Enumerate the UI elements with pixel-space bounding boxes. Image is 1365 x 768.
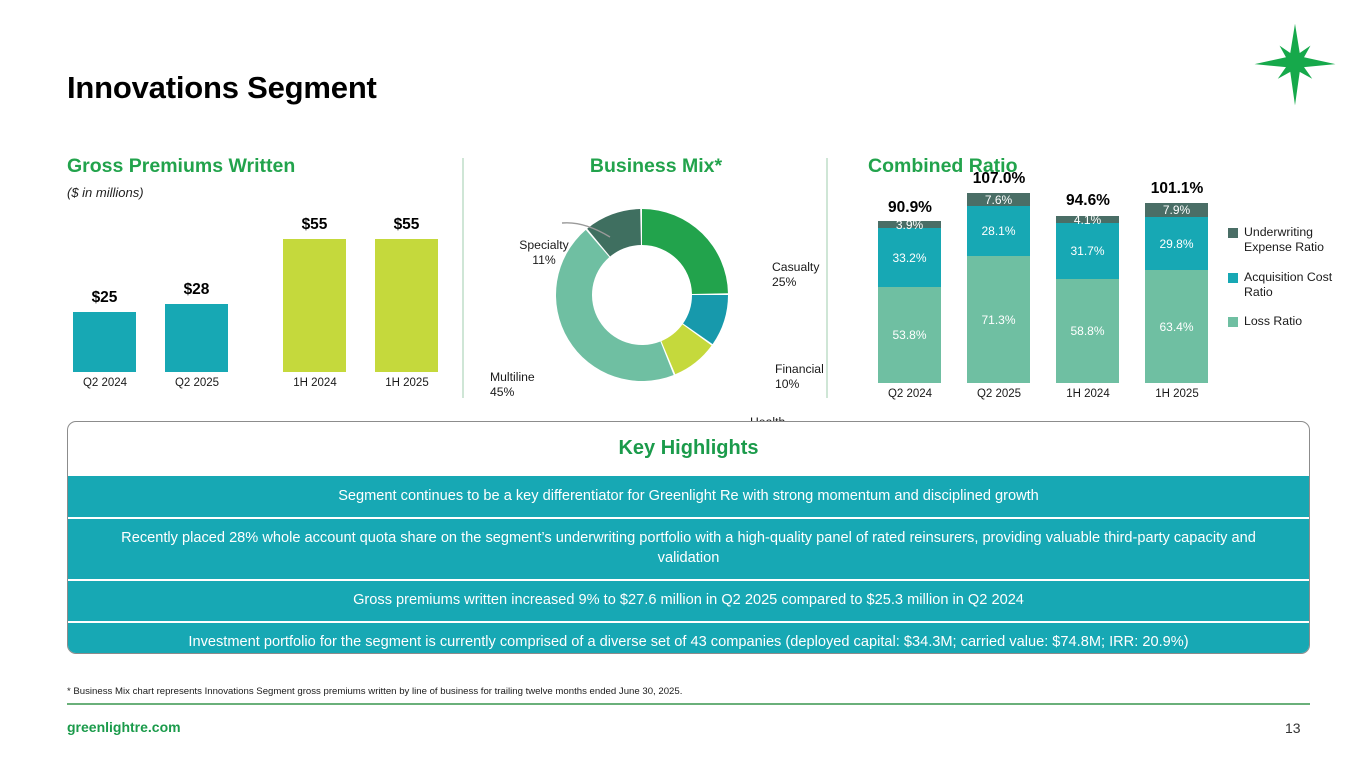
gpw-category-label: 1H 2024 <box>275 377 355 389</box>
cr-segment-underwriting-expense-ratio: 4.1% <box>1056 216 1119 223</box>
combined-ratio-legend: Underwriting Expense RatioAcquisition Co… <box>1228 225 1353 344</box>
cr-segment-acquisition-cost-ratio: 29.8% <box>1145 217 1208 270</box>
key-highlights-box: Key Highlights Segment continues to be a… <box>67 421 1310 654</box>
cr-category-label: 1H 2025 <box>1137 388 1217 400</box>
cr-segment-label: 7.6% <box>985 193 1012 207</box>
combined-ratio-chart: Combined Ratio 3.9%33.2%53.8%90.9%7.6%28… <box>868 155 1348 410</box>
gpw-category-axis: Q2 2024Q2 20251H 20241H 2025 <box>67 377 437 397</box>
cr-stack: 7.6%28.1%71.3% <box>967 193 1030 383</box>
footnote: * Business Mix chart represents Innovati… <box>67 686 682 697</box>
legend-label: Loss Ratio <box>1244 314 1302 329</box>
cr-segment-label: 53.8% <box>892 328 926 342</box>
cr-segment-acquisition-cost-ratio: 28.1% <box>967 206 1030 256</box>
cr-segment-acquisition-cost-ratio: 31.7% <box>1056 223 1119 279</box>
cr-segment-acquisition-cost-ratio: 33.2% <box>878 228 941 287</box>
page-number: 13 <box>1285 720 1301 736</box>
cr-column-q2-2024: 3.9%33.2%53.8%90.9% <box>878 193 941 383</box>
cr-segment-label: 4.1% <box>1074 213 1101 227</box>
page-title: Innovations Segment <box>67 70 377 106</box>
legend-label: Underwriting Expense Ratio <box>1244 225 1353 256</box>
combined-ratio-plot-area: 3.9%33.2%53.8%90.9%7.6%28.1%71.3%107.0%4… <box>868 193 1208 383</box>
cr-stack: 4.1%31.7%58.8% <box>1056 216 1119 383</box>
gpw-bar-1h-2024: $55 <box>283 216 346 372</box>
gpw-value-label: $28 <box>184 281 210 299</box>
gpw-value-label: $55 <box>394 216 420 234</box>
cr-total-label: 90.9% <box>860 199 960 217</box>
gpw-bar-1h-2025: $55 <box>375 216 438 372</box>
cr-segment-label: 29.8% <box>1159 237 1193 251</box>
gpw-title: Gross Premiums Written <box>67 155 447 178</box>
key-highlight-row: Segment continues to be a key differenti… <box>68 474 1309 517</box>
key-highlight-row: Gross premiums written increased 9% to $… <box>68 579 1309 621</box>
cr-column-q2-2025: 7.6%28.1%71.3%107.0% <box>967 193 1030 383</box>
key-highlight-row: Investment portfolio for the segment is … <box>68 621 1309 654</box>
business-mix-chart: Business Mix* Casualty 25% Financial 10%… <box>480 155 820 410</box>
cr-segment-label: 63.4% <box>1159 320 1193 334</box>
cr-category-label: Q2 2024 <box>870 388 950 400</box>
cr-segment-label: 71.3% <box>981 313 1015 327</box>
cr-segment-loss-ratio: 63.4% <box>1145 270 1208 383</box>
cr-segment-loss-ratio: 53.8% <box>878 287 941 383</box>
gpw-category-label: Q2 2025 <box>157 377 237 389</box>
slice-label-specialty: Specialty 11% <box>498 238 590 268</box>
legend-item: Acquisition Cost Ratio <box>1228 270 1353 301</box>
gpw-value-label: $55 <box>302 216 328 234</box>
business-mix-title: Business Mix* <box>526 155 786 178</box>
gpw-bar-rect <box>73 312 136 372</box>
website-link[interactable]: greenlightre.com <box>67 719 181 735</box>
greenlight-star-icon <box>1252 22 1338 108</box>
cr-segment-label: 33.2% <box>892 251 926 265</box>
gpw-category-label: Q2 2024 <box>65 377 145 389</box>
gpw-category-label: 1H 2025 <box>367 377 447 389</box>
donut-slice-casualty <box>642 209 728 294</box>
cr-segment-loss-ratio: 58.8% <box>1056 279 1119 383</box>
cr-total-label: 94.6% <box>1038 192 1138 210</box>
combined-ratio-category-axis: Q2 2024Q2 20251H 20241H 2025 <box>868 388 1208 408</box>
cr-segment-label: 7.9% <box>1163 203 1190 217</box>
cr-stack: 3.9%33.2%53.8% <box>878 221 941 383</box>
slice-label-casualty: Casualty 25% <box>772 260 819 290</box>
cr-column-1h-2025: 7.9%29.8%63.4%101.1% <box>1145 193 1208 383</box>
cr-stack: 7.9%29.8%63.4% <box>1145 203 1208 383</box>
legend-swatch-icon <box>1228 273 1238 283</box>
legend-item: Underwriting Expense Ratio <box>1228 225 1353 256</box>
gpw-subtitle: ($ in millions) <box>67 185 447 200</box>
gross-premiums-written-chart: Gross Premiums Written ($ in millions) $… <box>67 155 447 410</box>
legend-swatch-icon <box>1228 317 1238 327</box>
gpw-value-label: $25 <box>92 289 118 307</box>
divider-right <box>826 158 828 398</box>
cr-category-label: 1H 2024 <box>1048 388 1128 400</box>
cr-segment-loss-ratio: 71.3% <box>967 256 1030 383</box>
legend-swatch-icon <box>1228 228 1238 238</box>
gpw-bar-rect <box>375 239 438 372</box>
gpw-bar-rect <box>283 239 346 372</box>
cr-total-label: 101.1% <box>1127 180 1227 198</box>
cr-segment-label: 3.9% <box>896 218 923 232</box>
cr-column-1h-2024: 4.1%31.7%58.8%94.6% <box>1056 193 1119 383</box>
gpw-bar-q2-2025: $28 <box>165 281 228 372</box>
slice-label-financial: Financial 10% <box>775 362 824 392</box>
charts-row: Gross Premiums Written ($ in millions) $… <box>0 155 1365 410</box>
cr-segment-underwriting-expense-ratio: 3.9% <box>878 221 941 228</box>
cr-segment-underwriting-expense-ratio: 7.9% <box>1145 203 1208 217</box>
cr-total-label: 107.0% <box>949 170 1049 188</box>
cr-category-label: Q2 2025 <box>959 388 1039 400</box>
legend-label: Acquisition Cost Ratio <box>1244 270 1353 301</box>
donut-area: Casualty 25% Financial 10% Health 9% Mul… <box>532 195 752 405</box>
slide: Innovations Segment Gross Premiums Writt… <box>0 0 1365 768</box>
combined-ratio-title: Combined Ratio <box>868 155 1348 178</box>
gpw-bar-rect <box>165 304 228 372</box>
legend-item: Loss Ratio <box>1228 314 1353 329</box>
cr-segment-underwriting-expense-ratio: 7.6% <box>967 193 1030 206</box>
cr-segment-label: 28.1% <box>981 224 1015 238</box>
key-highlights-heading: Key Highlights <box>68 422 1309 474</box>
slice-label-multiline: Multiline 45% <box>490 370 535 400</box>
divider-left <box>462 158 464 398</box>
cr-segment-label: 31.7% <box>1070 244 1104 258</box>
key-highlight-row: Recently placed 28% whole account quota … <box>68 517 1309 579</box>
gpw-bar-q2-2024: $25 <box>73 289 136 372</box>
footer-divider <box>67 703 1310 705</box>
gpw-plot-area: $25$28$55$55 <box>67 227 437 372</box>
cr-segment-label: 58.8% <box>1070 324 1104 338</box>
